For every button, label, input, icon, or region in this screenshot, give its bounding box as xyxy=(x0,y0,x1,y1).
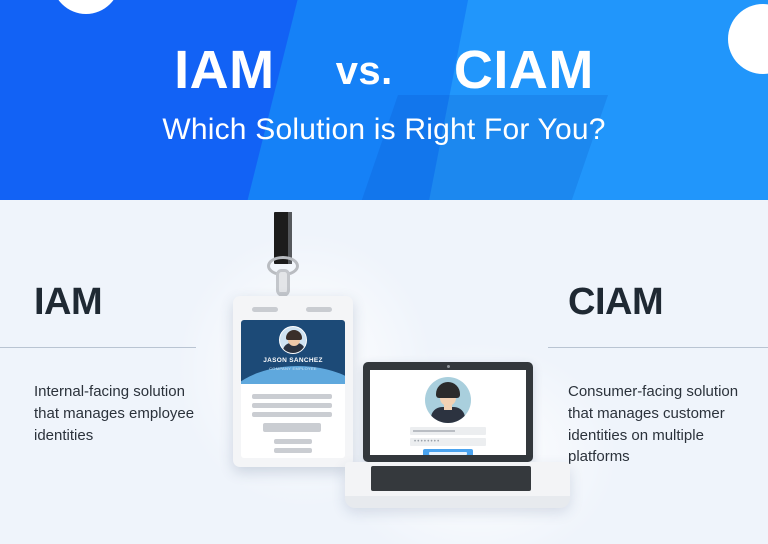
login-avatar xyxy=(425,377,471,423)
iam-heading: IAM xyxy=(34,281,102,324)
badge-name-text: JASON SANCHEZ xyxy=(241,357,345,364)
password-field-mask: •••••••• xyxy=(414,440,440,444)
username-field-value xyxy=(413,430,455,432)
laptop-illustration: •••••••• xyxy=(345,362,570,532)
title-iam: IAM xyxy=(174,40,274,100)
badge-slot-left xyxy=(252,307,278,312)
badge-avatar xyxy=(279,326,307,354)
title-ciam: CIAM xyxy=(454,40,594,100)
laptop-lid: •••••••• xyxy=(363,362,533,462)
laptop-webcam-icon xyxy=(447,365,450,368)
password-field[interactable]: •••••••• xyxy=(410,438,486,446)
badge-text-line xyxy=(252,394,332,399)
ciam-divider xyxy=(548,347,768,348)
laptop-base-front-edge xyxy=(345,496,570,508)
header-banner: IAM vs. CIAM Which Solution is Right For… xyxy=(0,0,768,200)
id-badge-illustration: JASON SANCHEZ COMPANY EMPLOYEE xyxy=(233,212,353,467)
laptop-screen: •••••••• xyxy=(370,370,526,455)
badge-header-panel: JASON SANCHEZ COMPANY EMPLOYEE xyxy=(241,320,345,384)
badge-card: JASON SANCHEZ COMPANY EMPLOYEE xyxy=(233,296,353,467)
login-button-label xyxy=(429,452,467,455)
iam-description: Internal-facing solution that manages em… xyxy=(34,381,209,446)
username-field[interactable] xyxy=(410,427,486,435)
badge-text-line xyxy=(252,412,332,417)
badge-role-text: COMPANY EMPLOYEE xyxy=(241,366,345,371)
title-vs: vs. xyxy=(336,49,393,93)
infographic-canvas: IAM vs. CIAM Which Solution is Right For… xyxy=(0,0,768,544)
laptop-keyboard xyxy=(371,466,531,491)
iam-divider xyxy=(0,347,196,348)
banner-subtitle: Which Solution is Right For You? xyxy=(0,113,768,147)
badge-slot-right xyxy=(306,307,332,312)
badge-avatar-hair xyxy=(286,330,302,340)
badge-text-line xyxy=(252,403,332,408)
login-avatar-hair xyxy=(436,382,460,398)
banner-text-block: IAM vs. CIAM Which Solution is Right For… xyxy=(0,0,768,147)
ciam-description: Consumer-facing solution that manages cu… xyxy=(568,381,763,468)
badge-inner-face: JASON SANCHEZ COMPANY EMPLOYEE xyxy=(241,320,345,458)
ciam-heading: CIAM xyxy=(568,281,663,324)
login-button[interactable] xyxy=(423,449,473,455)
badge-text-line xyxy=(274,439,312,444)
banner-title: IAM vs. CIAM xyxy=(0,42,768,99)
badge-text-block xyxy=(263,423,321,432)
badge-text-line xyxy=(274,448,312,453)
